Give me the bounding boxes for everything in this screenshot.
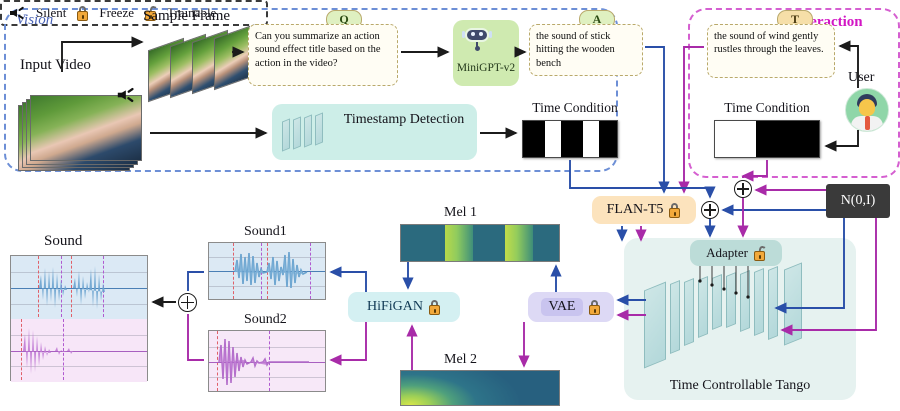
- add-operator-upper: [734, 180, 752, 198]
- lock-closed-icon: [428, 300, 441, 315]
- vision-time-condition-bar: [522, 120, 618, 158]
- sound2-waveform: [208, 330, 326, 392]
- adapter-module[interactable]: Adapter: [690, 240, 782, 266]
- time-condition-segment: [756, 121, 819, 157]
- unet-plates-icon: [644, 268, 834, 366]
- input-video-label: Input Video: [20, 57, 91, 74]
- diffusion-label: Time Controllable Tango: [640, 378, 840, 394]
- user-label: User: [848, 70, 874, 86]
- timestamp-layers-icon: [282, 110, 328, 154]
- sound-waveform: [10, 255, 148, 381]
- time-condition-segment: [561, 121, 583, 157]
- mute-icon: [10, 6, 26, 20]
- input-video-stack: [18, 95, 146, 173]
- interaction-time-condition-label: Time Condition: [707, 100, 827, 116]
- lock-closed-icon: [668, 203, 681, 218]
- lock-open-icon: [753, 246, 766, 261]
- vlm-label: MiniGPT-v2: [455, 62, 517, 74]
- mel2-label: Mel 2: [444, 352, 477, 368]
- answer-text: the sound of stick hitting the wooden be…: [529, 24, 643, 76]
- adapter-label: Adapter: [706, 245, 748, 261]
- mel1-spectrogram: [400, 224, 560, 262]
- add-operator-mix: [178, 293, 197, 312]
- time-condition-segment: [545, 121, 562, 157]
- question-text: Can you summarize an action sound effect…: [248, 24, 398, 86]
- sound1-label: Sound1: [244, 224, 287, 240]
- mel1-label: Mel 1: [444, 205, 477, 221]
- time-condition-segment: [599, 121, 617, 157]
- noise-label: N(0,I): [841, 193, 876, 209]
- add-operator-lower: [701, 201, 719, 219]
- sound2-label: Sound2: [244, 312, 287, 328]
- sample-frame-stack: [148, 30, 258, 100]
- prompt-text[interactable]: the sound of wind gently rustles through…: [707, 24, 835, 78]
- vae-module[interactable]: VAE: [528, 292, 614, 322]
- timestamp-detection-label: Timestamp Detection: [340, 112, 468, 128]
- time-condition-segment: [583, 121, 600, 157]
- vocoder-label: HiFiGAN: [367, 299, 423, 315]
- text-encoder-label: FLAN-T5: [607, 202, 664, 218]
- interaction-time-condition-bar: [714, 120, 820, 158]
- time-condition-segment: [523, 121, 545, 157]
- mel2-spectrogram: [400, 370, 560, 406]
- vocoder-module[interactable]: HiFiGAN: [348, 292, 460, 322]
- sound1-waveform: [208, 242, 326, 300]
- sound-label: Sound: [44, 233, 82, 250]
- text-encoder-module[interactable]: FLAN-T5: [592, 196, 696, 224]
- noise-module: N(0,I): [826, 184, 890, 218]
- lock-closed-icon: [76, 6, 89, 21]
- lock-closed-icon: [588, 300, 601, 315]
- time-condition-segment: [715, 121, 756, 157]
- robot-icon: [462, 26, 492, 52]
- silent-icon: [118, 87, 136, 103]
- vision-time-condition-label: Time Condition: [519, 100, 631, 116]
- sample-frame-label: Sample Frame: [143, 8, 230, 25]
- avatar: [845, 88, 889, 132]
- vae-label: VAE: [541, 298, 584, 316]
